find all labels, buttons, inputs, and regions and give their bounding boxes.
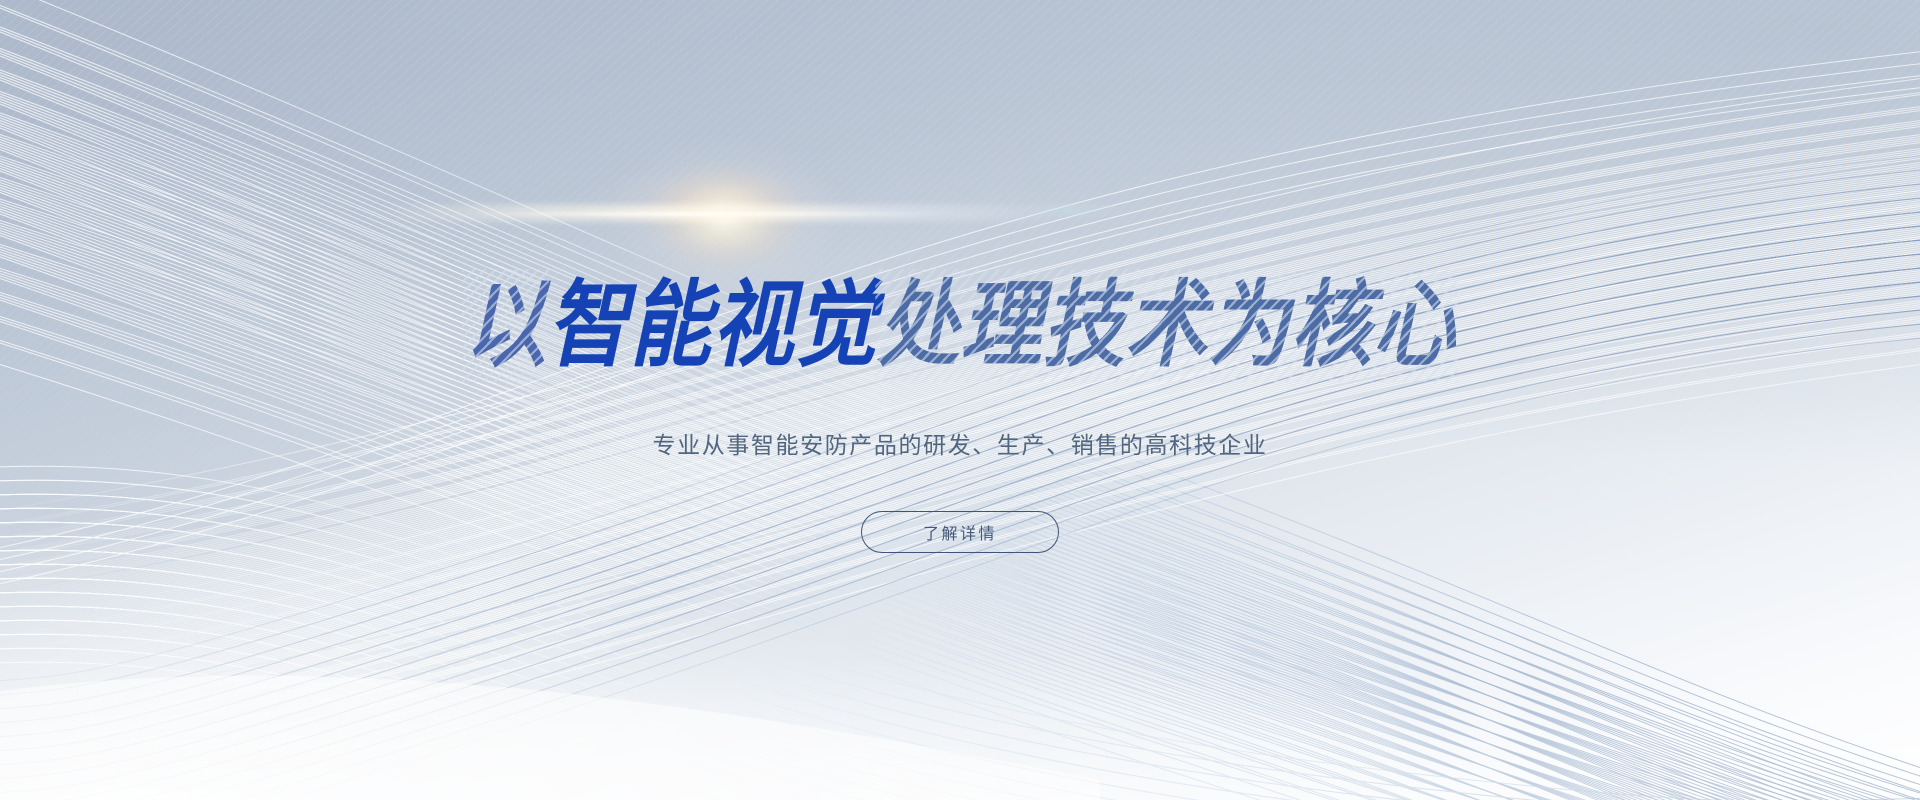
learn-more-button[interactable]: 了解详情	[861, 511, 1059, 553]
cta-container: 了解详情	[0, 511, 1920, 553]
headline-muted: 处理技术为核心	[877, 276, 1455, 375]
headline-lead: 以	[464, 276, 547, 375]
banner-headline: 以智能视觉处理技术为核心	[0, 276, 1920, 375]
headline-accent: 智能视觉	[547, 276, 877, 375]
banner-content: 以智能视觉处理技术为核心 专业从事智能安防产品的研发、生产、销售的高科技企业 了…	[0, 0, 1920, 800]
hero-banner: 以智能视觉处理技术为核心 专业从事智能安防产品的研发、生产、销售的高科技企业 了…	[0, 0, 1920, 800]
banner-subtitle: 专业从事智能安防产品的研发、生产、销售的高科技企业	[0, 426, 1920, 460]
